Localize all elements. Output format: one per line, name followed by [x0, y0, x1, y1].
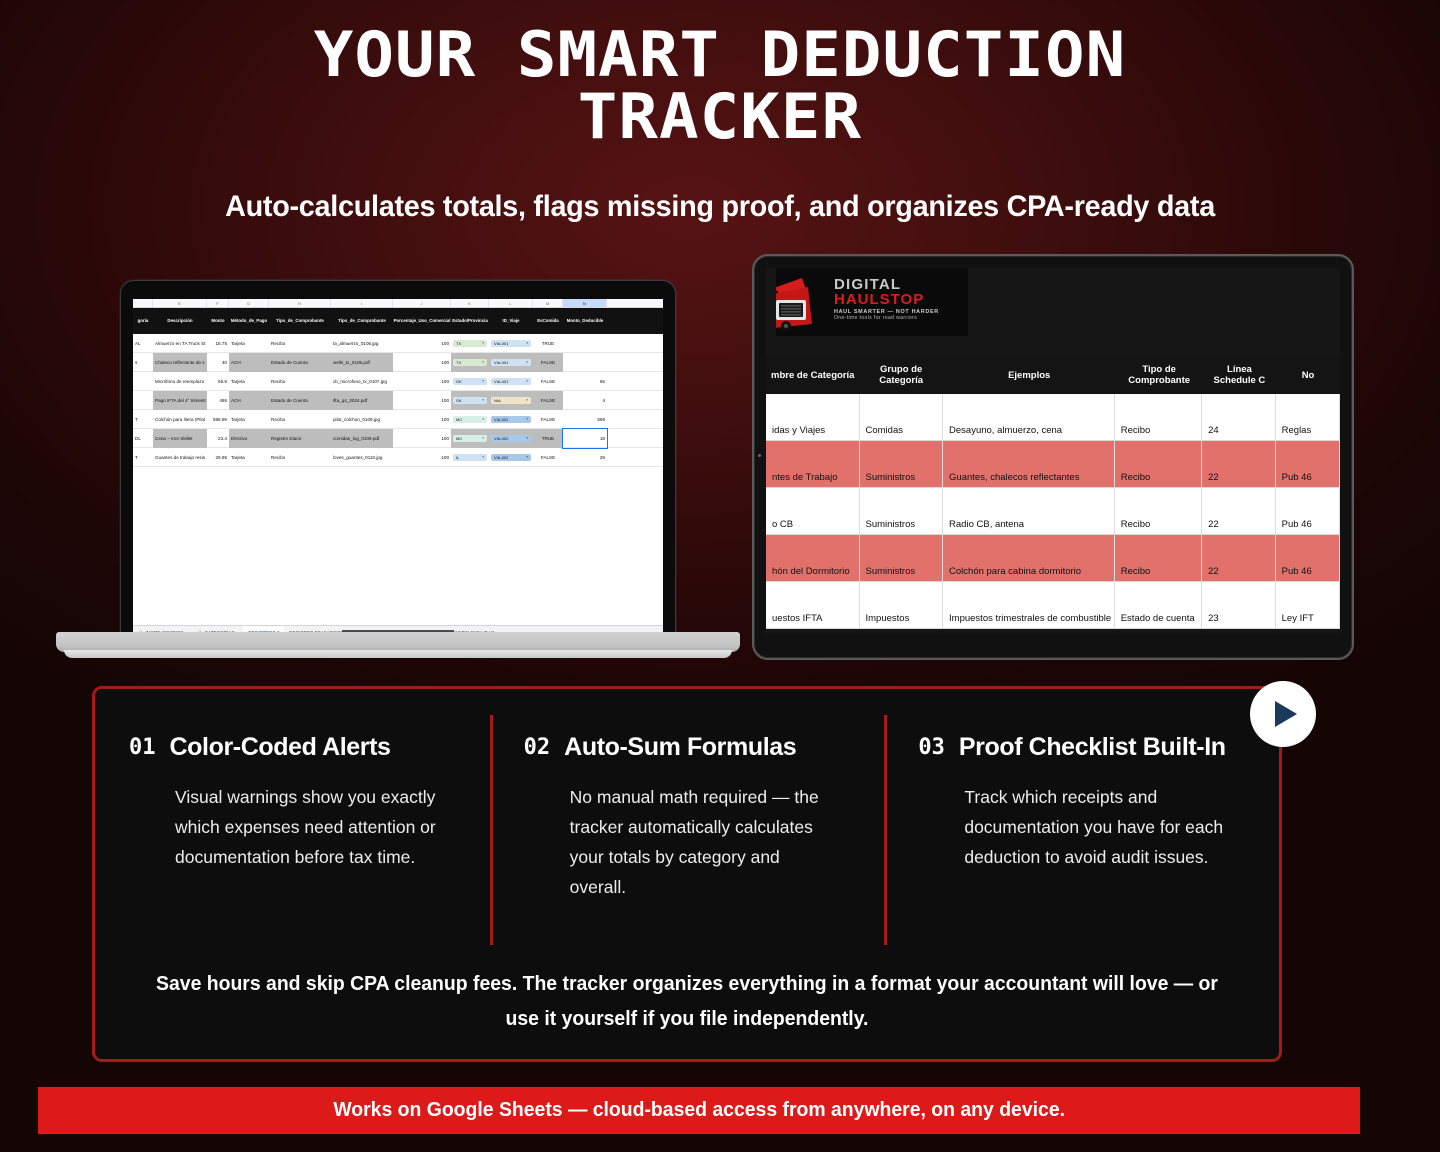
- cell-3[interactable]: Recibo: [1115, 488, 1202, 534]
- dropdown-chip[interactable]: VIA-002▾: [491, 416, 531, 423]
- cell-0[interactable]: DL: [133, 429, 153, 448]
- cell-8[interactable]: VIA-001▾: [489, 334, 533, 353]
- cell-5[interactable]: comidas_log_0109.pdf: [331, 429, 393, 448]
- cell-9[interactable]: TRUE: [533, 334, 563, 353]
- cell-7[interactable]: TX▾: [451, 353, 489, 372]
- bottom-banner: Works on Google Sheets — cloud-based acc…: [38, 1087, 1360, 1134]
- cell-1[interactable]: Suministros: [860, 441, 944, 487]
- cell-1[interactable]: Micrófono de reemplazo: [153, 372, 207, 391]
- cell-4[interactable]: 24: [1202, 394, 1276, 440]
- cell-1[interactable]: Suministros: [860, 535, 944, 581]
- col-header-5: Tipo_de_Comprobante: [331, 308, 393, 334]
- cell-4[interactable]: Estado de Cuenta: [269, 391, 331, 410]
- dropdown-chip[interactable]: TX▾: [453, 359, 487, 366]
- feature-number: 01: [129, 735, 156, 760]
- poster-root: YOUR SMART DEDUCTION TRACKER Auto-calcul…: [0, 0, 1440, 1152]
- dropdown-chip[interactable]: VIA-001▾: [491, 378, 531, 385]
- cell-8[interactable]: VIA-002▾: [489, 410, 533, 429]
- table-row[interactable]: TGuantes de trabajo resis29.95TarjetaRec…: [133, 448, 663, 467]
- column-letter-K[interactable]: K: [451, 299, 489, 307]
- cell-4[interactable]: 22: [1202, 441, 1276, 487]
- col-header-10: Monto_Deducible: [563, 308, 607, 334]
- cell-3[interactable]: ACH: [229, 391, 269, 410]
- brand-logo: DIGITAL HAULSTOP HAUL SMARTER — NOT HARD…: [776, 268, 968, 336]
- cell-7[interactable]: OK▾: [451, 391, 489, 410]
- tablet-screen: DIGITAL HAULSTOP HAUL SMARTER — NOT HARD…: [766, 268, 1340, 634]
- cell-2[interactable]: Colchón para cabina dormitorio: [943, 535, 1115, 581]
- cell-4[interactable]: 22: [1202, 535, 1276, 581]
- feature-number: 02: [524, 735, 551, 760]
- cell-7[interactable]: TX▾: [451, 334, 489, 353]
- cell-6[interactable]: 100: [393, 334, 451, 353]
- feature-card-head: 01Color-Coded Alerts: [129, 733, 454, 762]
- cell-0[interactable]: [133, 391, 153, 410]
- cell-1[interactable]: Cena – Iron Skillet: [153, 429, 207, 448]
- cell-6[interactable]: 100: [393, 410, 451, 429]
- categories-table-body[interactable]: idas y ViajesComidasDesayuno, almuerzo, …: [766, 394, 1340, 629]
- column-letter-F[interactable]: F: [207, 299, 229, 307]
- cell-5[interactable]: loves_guantes_0110.jpg: [331, 448, 393, 467]
- column-letter-E[interactable]: E: [153, 299, 207, 307]
- cell-5[interactable]: Reglas: [1276, 394, 1340, 440]
- cell-10[interactable]: 4: [563, 391, 607, 410]
- cell-10[interactable]: 598: [563, 410, 607, 429]
- cell-2[interactable]: 23.4: [207, 429, 229, 448]
- tablet-camera-dot: [758, 454, 761, 457]
- cell-2[interactable]: 40: [207, 353, 229, 372]
- feature-card-01: 01Color-Coded AlertsVisual warnings show…: [95, 701, 490, 951]
- title-line-2: TRACKER: [0, 86, 1440, 148]
- cell-1[interactable]: Suministros: [860, 488, 944, 534]
- spreadsheet-registros[interactable]: EFGHIJKLMN goríaDescripciónMontoMétodo_d…: [133, 299, 663, 633]
- dropdown-chip[interactable]: TX▾: [453, 340, 487, 347]
- cell-5[interactable]: cb_microfono_tx_0107.jpg: [331, 372, 393, 391]
- cell-3[interactable]: Estado de cuenta: [1115, 582, 1202, 628]
- feature-card-03: 03Proof Checklist Built-InTrack which re…: [884, 701, 1279, 951]
- cell-9[interactable]: FALSE: [533, 353, 563, 372]
- tablet-col-header-0: mbre de Categoría: [766, 356, 859, 394]
- cell-9[interactable]: FALSE: [533, 448, 563, 467]
- dropdown-chip[interactable]: VIA-002▾: [491, 435, 531, 442]
- logo-line-2: HAULSTOP: [834, 292, 939, 308]
- laptop-screen: EFGHIJKLMN goríaDescripciónMontoMétodo_d…: [133, 299, 663, 633]
- spreadsheet-column-letters: EFGHIJKLMN: [133, 299, 663, 308]
- column-letter-J[interactable]: J: [393, 299, 451, 307]
- panel-footer-text: Save hours and skip CPA cleanup fees. Th…: [113, 967, 1261, 1037]
- cell-0[interactable]: AL: [133, 334, 153, 353]
- cell-2[interactable]: 18.75: [207, 334, 229, 353]
- feature-body: No manual math required — the tracker au…: [570, 782, 840, 902]
- feature-card-head: 03Proof Checklist Built-In: [918, 733, 1243, 762]
- cell-9[interactable]: FALSE: [533, 410, 563, 429]
- table-row[interactable]: uestos IFTAImpuestosImpuestos trimestral…: [766, 582, 1340, 629]
- dropdown-chip[interactable]: N/A▾: [491, 397, 531, 404]
- cell-0[interactable]: idas y Viajes: [766, 394, 860, 440]
- dropdown-chip[interactable]: IL▾: [453, 454, 487, 461]
- feature-title: Proof Checklist Built-In: [959, 733, 1226, 762]
- dropdown-chip[interactable]: VIA-001▾: [491, 340, 531, 347]
- col-header-6: Porcentaje_Uso_Comercial: [393, 308, 451, 334]
- cell-4[interactable]: Recibo: [269, 448, 331, 467]
- cell-5[interactable]: pilot_colchon_0109.jpg: [331, 410, 393, 429]
- col-header-8: ID_Viaje: [489, 308, 533, 334]
- cell-10[interactable]: [563, 334, 607, 353]
- cell-2[interactable]: 598.99: [207, 410, 229, 429]
- cell-2[interactable]: Impuestos trimestrales de combustible: [943, 582, 1115, 628]
- play-button[interactable]: [1250, 681, 1316, 747]
- dropdown-chip[interactable]: MO▾: [453, 435, 487, 442]
- table-row[interactable]: DLCena – Iron Skillet23.4EfectivoRegistr…: [133, 429, 663, 448]
- cell-3[interactable]: ACH: [229, 353, 269, 372]
- column-letter-N[interactable]: N: [563, 299, 607, 307]
- col-header-2: Monto: [207, 308, 229, 334]
- cell-8[interactable]: VIA-002▾: [489, 448, 533, 467]
- cell-5[interactable]: wells_tx_0106.pdf: [331, 353, 393, 372]
- feature-title: Auto-Sum Formulas: [564, 733, 796, 762]
- cell-9[interactable]: TRUE: [533, 429, 563, 448]
- logo-wordmark: DIGITAL HAULSTOP HAUL SMARTER — NOT HARD…: [834, 277, 939, 321]
- cell-0[interactable]: [133, 372, 153, 391]
- cell-1[interactable]: Comidas: [860, 394, 944, 440]
- cell-3[interactable]: Tarjeta: [229, 372, 269, 391]
- cell-5[interactable]: Ley IFT: [1276, 582, 1340, 628]
- feature-title: Color-Coded Alerts: [170, 733, 391, 762]
- cell-1[interactable]: Pago IFTA del 4° trimestr: [153, 391, 207, 410]
- cell-1[interactable]: Impuestos: [860, 582, 944, 628]
- laptop-base: [56, 632, 740, 652]
- cell-4[interactable]: Recibo: [269, 410, 331, 429]
- column-letter-H[interactable]: H: [269, 299, 331, 307]
- features-panel: 01Color-Coded AlertsVisual warnings show…: [92, 686, 1282, 1062]
- play-icon: [1275, 701, 1297, 727]
- cell-0[interactable]: uestos IFTA: [766, 582, 860, 628]
- tablet-mockup: DIGITAL HAULSTOP HAUL SMARTER — NOT HARD…: [752, 254, 1354, 660]
- banner-text: Works on Google Sheets — cloud-based acc…: [333, 1099, 1065, 1122]
- cell-0[interactable]: o CB: [766, 488, 860, 534]
- tablet-col-header-2: Ejemplos: [943, 356, 1116, 394]
- col-header-7: Estado/Provincia: [451, 308, 489, 334]
- feature-body: Visual warnings show you exactly which e…: [175, 782, 445, 872]
- table-row[interactable]: ALAlmuerzo en TA Truck St18.75TarjetaRec…: [133, 334, 663, 353]
- column-letter-M[interactable]: M: [533, 299, 563, 307]
- cell-5[interactable]: Pub 46: [1276, 535, 1340, 581]
- column-letter-L[interactable]: L: [489, 299, 533, 307]
- feature-number: 03: [918, 735, 945, 760]
- cell-3[interactable]: Tarjeta: [229, 334, 269, 353]
- cell-0[interactable]: T: [133, 448, 153, 467]
- cell-7[interactable]: OK▾: [451, 372, 489, 391]
- cell-5[interactable]: ta_almuerzo_0106.jpg: [331, 334, 393, 353]
- cell-7[interactable]: IL▾: [451, 448, 489, 467]
- feature-card-head: 02Auto-Sum Formulas: [524, 733, 849, 762]
- dropdown-chip[interactable]: OK▾: [453, 397, 487, 404]
- cell-10[interactable]: 18: [563, 429, 607, 448]
- tablet-col-header-5: No: [1276, 356, 1340, 394]
- cell-0[interactable]: s: [133, 353, 153, 372]
- feature-cards: 01Color-Coded AlertsVisual warnings show…: [95, 701, 1279, 951]
- cell-8[interactable]: VIA-001▾: [489, 372, 533, 391]
- spreadsheet-header-row: goríaDescripciónMontoMétodo_de_PagoTipo_…: [133, 308, 663, 334]
- cell-0[interactable]: hón del Dormitorio: [766, 535, 860, 581]
- cell-0[interactable]: ntes de Trabajo: [766, 441, 860, 487]
- col-header-1: Descripción: [153, 308, 207, 334]
- cell-3[interactable]: Recibo: [1115, 535, 1202, 581]
- cell-2[interactable]: Desayuno, almuerzo, cena: [943, 394, 1115, 440]
- cell-1[interactable]: Colchón para litera (Pilot: [153, 410, 207, 429]
- laptop-mockup: EFGHIJKLMN goríaDescripciónMontoMétodo_d…: [56, 280, 740, 662]
- tablet-col-header-4: Línea Schedule C: [1203, 356, 1276, 394]
- col-header-0: goría: [133, 308, 153, 334]
- logo-tagline-2: One-time tools for road warriors: [834, 315, 939, 321]
- cell-2[interactable]: Guantes, chalecos reflectantes: [943, 441, 1115, 487]
- cell-6[interactable]: 100: [393, 372, 451, 391]
- table-row[interactable]: ntes de TrabajoSuministrosGuantes, chale…: [766, 441, 1340, 488]
- cell-3[interactable]: Tarjeta: [229, 448, 269, 467]
- cell-1[interactable]: Chaleco reflectante de s: [153, 353, 207, 372]
- table-row[interactable]: Pago IFTA del 4° trimestr495ACHEstado de…: [133, 391, 663, 410]
- table-row[interactable]: TColchón para litera (Pilot598.99Tarjeta…: [133, 410, 663, 429]
- cell-3[interactable]: Tarjeta: [229, 410, 269, 429]
- cell-5[interactable]: ifta_q4_2024.pdf: [331, 391, 393, 410]
- table-row[interactable]: o CBSuministrosRadio CB, antenaRecibo22P…: [766, 488, 1340, 535]
- cell-9[interactable]: FALSE: [533, 391, 563, 410]
- column-letter-I[interactable]: I: [331, 299, 393, 307]
- laptop-foot: [64, 650, 732, 658]
- cell-7[interactable]: MO▾: [451, 410, 489, 429]
- page-subtitle: Auto-calculates totals, flags missing pr…: [29, 190, 1411, 224]
- cell-8[interactable]: N/A▾: [489, 391, 533, 410]
- spreadsheet-body[interactable]: ALAlmuerzo en TA Truck St18.75TarjetaRec…: [133, 334, 663, 467]
- tablet-col-header-3: Tipo de Comprobante: [1116, 356, 1203, 394]
- cell-4[interactable]: 23: [1202, 582, 1276, 628]
- dropdown-chip[interactable]: VIA-001▾: [491, 359, 531, 366]
- cell-1[interactable]: Almuerzo en TA Truck St: [153, 334, 207, 353]
- cell-10[interactable]: 29: [563, 448, 607, 467]
- cell-3[interactable]: Recibo: [1115, 394, 1202, 440]
- cell-3[interactable]: Recibo: [1115, 441, 1202, 487]
- table-row[interactable]: hón del DormitorioSuministrosColchón par…: [766, 535, 1340, 582]
- cell-10[interactable]: 65: [563, 372, 607, 391]
- cell-6[interactable]: 100: [393, 353, 451, 372]
- cell-4[interactable]: Recibo: [269, 334, 331, 353]
- dropdown-chip[interactable]: MO▾: [453, 416, 487, 423]
- cell-6[interactable]: 100: [393, 448, 451, 467]
- column-letter-row[interactable]: [133, 299, 153, 307]
- feature-body: Track which receipts and documentation y…: [964, 782, 1234, 872]
- cell-2[interactable]: 29.95: [207, 448, 229, 467]
- cell-4[interactable]: Estado de Cuenta: [269, 353, 331, 372]
- cell-1[interactable]: Guantes de trabajo resis: [153, 448, 207, 467]
- page-title: YOUR SMART DEDUCTION TRACKER: [0, 24, 1440, 148]
- table-row[interactable]: sChaleco reflectante de s40ACHEstado de …: [133, 353, 663, 372]
- cell-4[interactable]: Registro Diario: [269, 429, 331, 448]
- cell-7[interactable]: MO▾: [451, 429, 489, 448]
- cell-4[interactable]: Recibo: [269, 372, 331, 391]
- col-header-4: Tipo_de_Comprobante: [269, 308, 331, 334]
- cell-2[interactable]: Radio CB, antena: [943, 488, 1115, 534]
- dropdown-chip[interactable]: VIA-002▾: [491, 454, 531, 461]
- column-letter-G[interactable]: G: [229, 299, 269, 307]
- cell-5[interactable]: Pub 46: [1276, 441, 1340, 487]
- cell-3[interactable]: Efectivo: [229, 429, 269, 448]
- feature-card-02: 02Auto-Sum FormulasNo manual math requir…: [490, 701, 885, 951]
- table-row[interactable]: Micrófono de reemplazo65.9TarjetaReciboc…: [133, 372, 663, 391]
- laptop-lid: EFGHIJKLMN goríaDescripciónMontoMétodo_d…: [120, 280, 676, 642]
- tablet-col-header-1: Grupo de Categoría: [859, 356, 942, 394]
- logo-line-1: DIGITAL: [834, 277, 939, 292]
- dropdown-chip[interactable]: OK▾: [453, 378, 487, 385]
- cell-6[interactable]: 100: [393, 391, 451, 410]
- cell-9[interactable]: FALSE: [533, 372, 563, 391]
- cell-2[interactable]: 65.9: [207, 372, 229, 391]
- cell-4[interactable]: 22: [1202, 488, 1276, 534]
- cell-10[interactable]: [563, 353, 607, 372]
- cell-5[interactable]: Pub 46: [1276, 488, 1340, 534]
- cell-6[interactable]: 100: [393, 429, 451, 448]
- col-header-9: EsComida: [533, 308, 563, 334]
- cell-8[interactable]: VIA-002▾: [489, 429, 533, 448]
- cell-8[interactable]: VIA-001▾: [489, 353, 533, 372]
- cell-2[interactable]: 495: [207, 391, 229, 410]
- cell-0[interactable]: T: [133, 410, 153, 429]
- table-row[interactable]: idas y ViajesComidasDesayuno, almuerzo, …: [766, 394, 1340, 441]
- categories-header-row: mbre de CategoríaGrupo de CategoríaEjemp…: [766, 356, 1340, 394]
- col-header-3: Método_de_Pago: [229, 308, 269, 334]
